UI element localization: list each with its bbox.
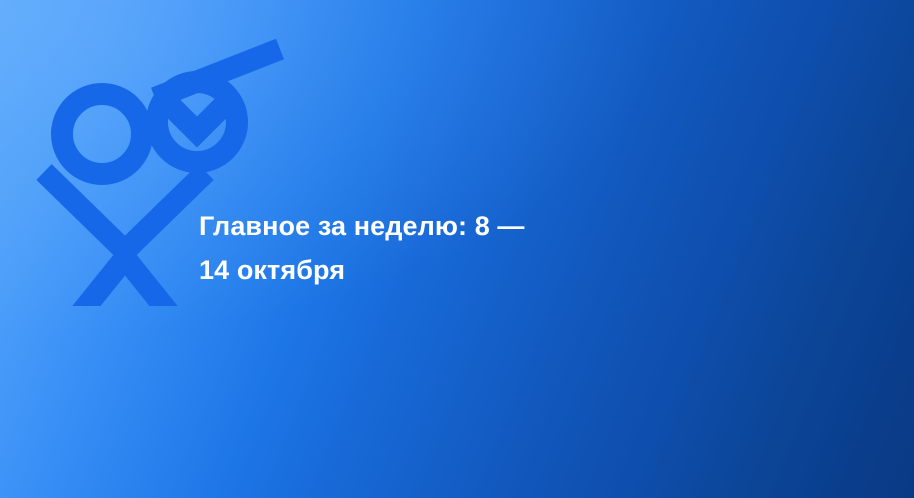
left-eye-ring-icon <box>62 94 142 174</box>
weekly-digest-banner: Главное за неделю: 8 — 14 октября <box>0 0 914 498</box>
legs-v-icon <box>80 258 170 306</box>
arms-v-icon <box>44 172 206 251</box>
checkmark-chevron-icon <box>167 102 227 132</box>
page-title: Главное за неделю: 8 — 14 октября <box>199 204 759 292</box>
